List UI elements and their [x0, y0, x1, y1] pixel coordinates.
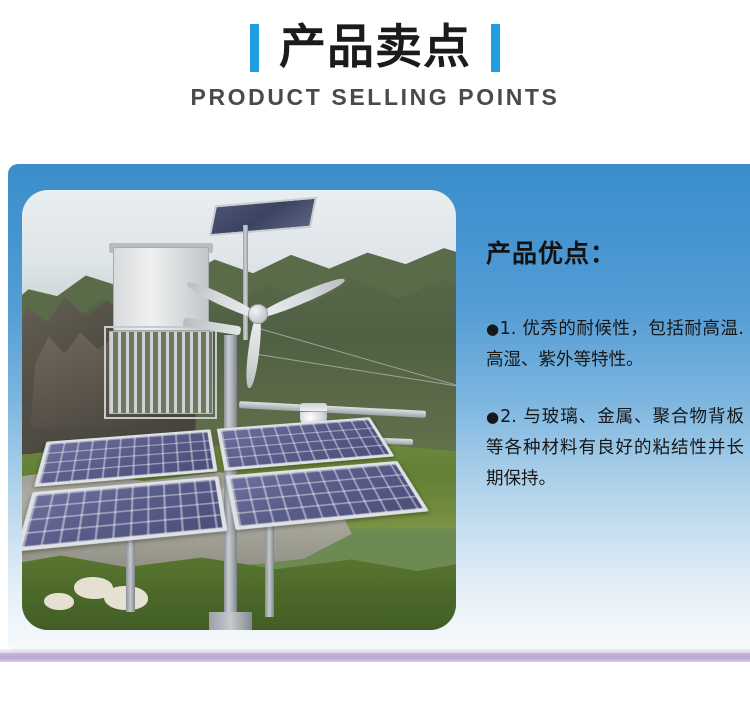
- advantages-section: 产品优点： ●1. 优秀的耐候性，包括耐高温.高湿、紫外等特性。 ●2. 与玻璃…: [486, 234, 744, 521]
- bullet-icon: ●: [486, 408, 500, 426]
- photo-instrument-cage: [109, 331, 213, 415]
- photo-scene: [22, 190, 456, 630]
- photo-mast-base: [209, 612, 252, 630]
- photo-sheep: [44, 593, 74, 611]
- advantage-text: 与玻璃、金属、聚合物背板等各种材料有良好的粘结性并长期保持。: [486, 407, 744, 489]
- title-accent-bar-left: [250, 24, 259, 72]
- page-header: 产品卖点 PRODUCT SELLING POINTS: [0, 0, 750, 140]
- content-panel: 产品优点： ●1. 优秀的耐候性，包括耐高温.高湿、紫外等特性。 ●2. 与玻璃…: [8, 164, 750, 652]
- bullet-icon: ●: [486, 320, 500, 338]
- photo-turbine-hub: [248, 304, 268, 324]
- page-subtitle: PRODUCT SELLING POINTS: [0, 84, 750, 111]
- advantages-heading: 产品优点：: [486, 234, 744, 270]
- page-title: 产品卖点: [279, 22, 471, 74]
- photo-solar-panel-pole: [243, 225, 248, 339]
- photo-ptz-camera-mount: [300, 403, 327, 411]
- advantage-text: 优秀的耐候性，包括耐高温.高湿、紫外等特性。: [486, 319, 744, 370]
- advantage-number: 2.: [500, 407, 517, 427]
- advantage-item: ●2. 与玻璃、金属、聚合物背板等各种材料有良好的粘结性并长期保持。: [486, 402, 744, 495]
- product-selling-points-page: 产品卖点 PRODUCT SELLING POINTS: [0, 0, 750, 702]
- photo-array-leg: [265, 524, 274, 616]
- title-row: 产品卖点: [0, 16, 750, 80]
- product-photo: [22, 190, 456, 630]
- advantage-item: ●1. 优秀的耐候性，包括耐高温.高湿、紫外等特性。: [486, 314, 744, 376]
- title-accent-bar-right: [491, 24, 500, 72]
- footer-rule: [0, 653, 750, 662]
- advantage-number: 1.: [500, 319, 517, 339]
